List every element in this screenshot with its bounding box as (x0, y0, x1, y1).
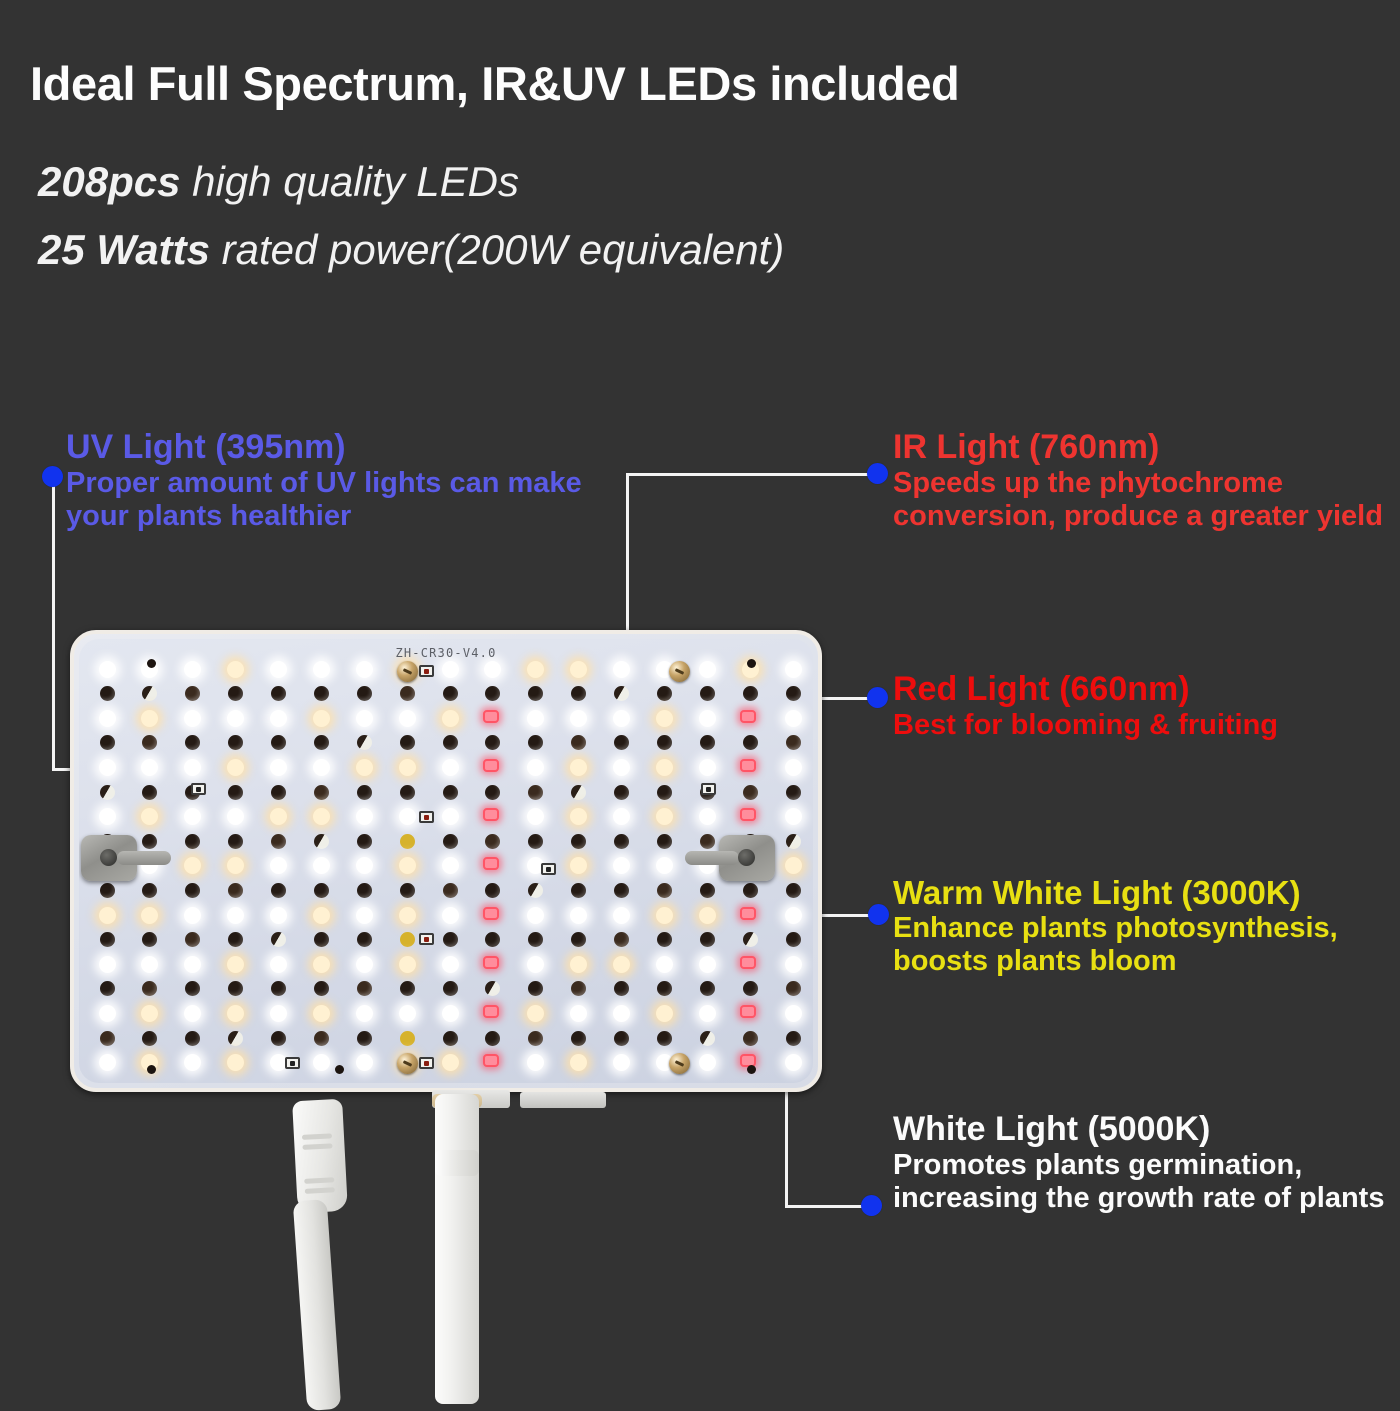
led-d2 (786, 735, 801, 750)
led-d (228, 981, 243, 996)
led-d (657, 932, 672, 947)
led-d (786, 932, 801, 947)
led-dw (142, 686, 157, 701)
mounting-bracket-right (719, 835, 775, 881)
led-w (99, 1054, 116, 1071)
led-d (657, 785, 672, 800)
gooseneck-segment (435, 1150, 479, 1176)
led-d (185, 834, 200, 849)
plug-ridge (302, 1143, 332, 1150)
led-w (613, 1005, 630, 1022)
led-d (357, 785, 372, 800)
page-title: Ideal Full Spectrum, IR&UV LEDs included (30, 56, 959, 111)
led-d (142, 834, 157, 849)
callout-ir-title: IR Light (760nm) (893, 430, 1393, 465)
led-d (100, 981, 115, 996)
led-w (399, 710, 416, 727)
led-w (227, 808, 244, 825)
led-ir-smd (419, 1057, 434, 1069)
led-ww (141, 808, 158, 825)
led-w (356, 907, 373, 924)
led-uv-smd (541, 863, 556, 875)
leader-dot-red-label (867, 687, 888, 708)
led-d (271, 883, 286, 898)
led-r (483, 956, 499, 969)
bracket-hole (100, 849, 117, 866)
panel-pin-hole (147, 659, 156, 668)
led-d (657, 735, 672, 750)
callout-warm-white-light: Warm White Light (3000K) Enhance plants … (893, 876, 1393, 978)
led-w (785, 1005, 802, 1022)
led-d (271, 785, 286, 800)
led-uv-smd (701, 783, 716, 795)
led-d2 (314, 1031, 329, 1046)
led-dw (485, 981, 500, 996)
led-y (400, 834, 415, 849)
led-d2 (142, 735, 157, 750)
led-w (184, 1054, 201, 1071)
led-r (483, 710, 499, 723)
led-d (314, 686, 329, 701)
led-w (613, 759, 630, 776)
led-d (657, 1031, 672, 1046)
led-ww (527, 661, 544, 678)
led-w (356, 857, 373, 874)
led-w (699, 1054, 716, 1071)
led-d (571, 1031, 586, 1046)
led-d2 (443, 883, 458, 898)
led-d (614, 981, 629, 996)
bracket-hole (738, 849, 755, 866)
led-d (443, 834, 458, 849)
led-d (314, 932, 329, 947)
plug-ridge (305, 1187, 335, 1194)
led-dw (571, 785, 586, 800)
leader-dot-ir-label (867, 463, 888, 484)
led-d (443, 735, 458, 750)
callout-uv-title: UV Light (395nm) (66, 430, 586, 465)
led-r (740, 759, 756, 772)
power-plug-connector (292, 1099, 348, 1213)
led-w (313, 857, 330, 874)
led-d (271, 1031, 286, 1046)
led-d (357, 834, 372, 849)
panel-pin-hole (747, 1065, 756, 1074)
led-w (313, 661, 330, 678)
led-w (442, 808, 459, 825)
led-d (100, 932, 115, 947)
led-ww (227, 1005, 244, 1022)
led-ww (227, 1054, 244, 1071)
led-ww (141, 907, 158, 924)
led-d (228, 686, 243, 701)
led-d (485, 785, 500, 800)
led-w (356, 1005, 373, 1022)
callout-warm-white-title: Warm White Light (3000K) (893, 876, 1393, 910)
led-ww (442, 1054, 459, 1071)
panel-screw (397, 1053, 418, 1074)
led-d (314, 735, 329, 750)
led-w (527, 808, 544, 825)
led-d (743, 883, 758, 898)
led-w (99, 710, 116, 727)
led-d (614, 1031, 629, 1046)
callout-ir-description: Speeds up the phytochrome conversion, pr… (893, 467, 1393, 533)
led-w (442, 956, 459, 973)
led-r (740, 710, 756, 723)
led-d (700, 932, 715, 947)
led-w (613, 907, 630, 924)
led-y (400, 1031, 415, 1046)
led-ww (570, 759, 587, 776)
led-w (99, 661, 116, 678)
led-array (79, 639, 813, 1083)
bracket-arm (685, 851, 739, 865)
led-ir-smd (419, 665, 434, 677)
led-w (785, 1054, 802, 1071)
led-w (227, 710, 244, 727)
panel-pin-hole (147, 1065, 156, 1074)
led-w (785, 907, 802, 924)
callout-uv-description: Proper amount of UV lights can make your… (66, 467, 586, 533)
panel-screw (397, 661, 418, 682)
led-d (485, 1031, 500, 1046)
led-d (485, 686, 500, 701)
led-w (442, 1005, 459, 1022)
led-w (699, 661, 716, 678)
led-r (483, 1005, 499, 1018)
led-d (100, 686, 115, 701)
led-d2 (100, 1031, 115, 1046)
led-w (570, 1005, 587, 1022)
led-d (271, 981, 286, 996)
led-d2 (185, 932, 200, 947)
led-w (99, 808, 116, 825)
led-uv-smd (285, 1057, 300, 1069)
led-d (528, 735, 543, 750)
led-w (527, 710, 544, 727)
led-d (571, 932, 586, 947)
led-d (142, 932, 157, 947)
led-ww (570, 1054, 587, 1071)
led-uv-smd (191, 783, 206, 795)
led-ww (613, 956, 630, 973)
panel-pin-hole (335, 1065, 344, 1074)
led-d (185, 981, 200, 996)
led-d (142, 1031, 157, 1046)
led-w (527, 1054, 544, 1071)
led-w (356, 710, 373, 727)
led-w (613, 857, 630, 874)
led-d (443, 1031, 458, 1046)
led-w (527, 907, 544, 924)
leader-line-white-horizontal (785, 1205, 873, 1208)
led-r (740, 907, 756, 920)
pcb-silkscreen-label: ZH-CR30-V4.0 (79, 646, 813, 660)
power-cord (293, 1199, 342, 1411)
led-dw (228, 1031, 243, 1046)
led-d2 (657, 883, 672, 898)
led-w (399, 1005, 416, 1022)
led-d (743, 735, 758, 750)
led-d (443, 981, 458, 996)
led-d (185, 1031, 200, 1046)
led-w (442, 907, 459, 924)
led-ww (99, 907, 116, 924)
led-w (442, 661, 459, 678)
led-r (483, 759, 499, 772)
led-d2 (185, 686, 200, 701)
led-d2 (314, 785, 329, 800)
led-w (442, 759, 459, 776)
led-ww (184, 857, 201, 874)
spec-power-value: 25 Watts (38, 226, 210, 273)
led-d (743, 981, 758, 996)
led-w (184, 710, 201, 727)
led-ww (313, 808, 330, 825)
led-w (141, 956, 158, 973)
led-dw (100, 785, 115, 800)
gooseneck-tube (435, 1094, 479, 1404)
led-d2 (571, 735, 586, 750)
leader-line-white-vertical (785, 1087, 788, 1208)
led-ww (141, 1005, 158, 1022)
led-d (400, 735, 415, 750)
led-w (270, 661, 287, 678)
led-ww (270, 808, 287, 825)
led-d2 (271, 834, 286, 849)
callout-red-light: Red Light (660nm) Best for blooming & fr… (893, 672, 1393, 742)
led-d (614, 883, 629, 898)
led-d2 (528, 785, 543, 800)
led-ww (656, 710, 673, 727)
led-ww (399, 956, 416, 973)
led-w (785, 759, 802, 776)
led-ww (399, 857, 416, 874)
led-d (443, 932, 458, 947)
led-d (228, 834, 243, 849)
led-w (184, 956, 201, 973)
led-d2 (614, 932, 629, 947)
led-ww (442, 710, 459, 727)
led-ww (227, 956, 244, 973)
led-w (442, 857, 459, 874)
led-ww (570, 857, 587, 874)
led-ww (399, 759, 416, 776)
led-r (740, 808, 756, 821)
led-w (484, 661, 501, 678)
callout-warm-white-description: Enhance plants photosynthesis, boosts pl… (893, 912, 1393, 978)
led-r (483, 808, 499, 821)
led-d (357, 686, 372, 701)
led-w (270, 710, 287, 727)
led-w (527, 759, 544, 776)
led-ww (570, 808, 587, 825)
led-d (614, 834, 629, 849)
led-ww (313, 956, 330, 973)
led-d (228, 932, 243, 947)
led-d (528, 686, 543, 701)
panel-pin-hole (747, 659, 756, 668)
led-d2 (357, 981, 372, 996)
led-ww (656, 759, 673, 776)
callout-red-title: Red Light (660nm) (893, 672, 1393, 707)
led-d (786, 785, 801, 800)
led-w (613, 1054, 630, 1071)
led-ww (570, 661, 587, 678)
led-w (184, 808, 201, 825)
plug-ridge (304, 1177, 334, 1184)
led-ww (356, 759, 373, 776)
led-dw (786, 834, 801, 849)
leader-line-uv-vertical (52, 486, 55, 770)
led-d2 (743, 1031, 758, 1046)
led-w (613, 710, 630, 727)
led-d (314, 883, 329, 898)
led-w (699, 710, 716, 727)
led-w (99, 1005, 116, 1022)
led-d (400, 883, 415, 898)
panel-mount-cap-right (520, 1092, 606, 1108)
bracket-arm (117, 851, 171, 865)
led-d2 (142, 981, 157, 996)
led-d (185, 735, 200, 750)
led-d (700, 981, 715, 996)
led-w (699, 759, 716, 776)
led-d (100, 735, 115, 750)
callout-red-description: Best for blooming & fruiting (893, 709, 1393, 742)
panel-screw (669, 1053, 690, 1074)
led-pcb-board: ZH-CR30-V4.0 (79, 639, 813, 1083)
led-d (528, 981, 543, 996)
led-w (99, 956, 116, 973)
spec-power-text: rated power(200W equivalent) (210, 226, 784, 273)
led-w (356, 1054, 373, 1071)
led-w (570, 710, 587, 727)
led-w (184, 1005, 201, 1022)
led-w (356, 956, 373, 973)
led-d (786, 686, 801, 701)
led-d2 (400, 686, 415, 701)
led-ww (227, 759, 244, 776)
led-d (485, 883, 500, 898)
leader-line-ir-horizontal (626, 473, 878, 476)
led-d (485, 735, 500, 750)
led-d (614, 785, 629, 800)
led-r (483, 857, 499, 870)
led-w (699, 956, 716, 973)
led-w (356, 661, 373, 678)
led-d (571, 834, 586, 849)
led-d (271, 735, 286, 750)
led-w (270, 956, 287, 973)
callout-uv-light: UV Light (395nm) Proper amount of UV lig… (66, 430, 586, 533)
spec-line-leds: 208pcs high quality LEDs (38, 158, 519, 206)
led-d (443, 785, 458, 800)
led-w (270, 857, 287, 874)
callout-white-light: White Light (5000K) Promotes plants germ… (893, 1112, 1393, 1215)
led-d (700, 735, 715, 750)
led-d (700, 883, 715, 898)
led-d (228, 735, 243, 750)
led-d (443, 686, 458, 701)
led-d (786, 1031, 801, 1046)
led-d (786, 883, 801, 898)
led-w (656, 956, 673, 973)
led-d2 (228, 883, 243, 898)
led-w (613, 808, 630, 825)
led-ww (227, 857, 244, 874)
led-r (483, 907, 499, 920)
led-d2 (571, 981, 586, 996)
led-w (656, 857, 673, 874)
led-w (227, 907, 244, 924)
led-w (699, 808, 716, 825)
led-ww (313, 1005, 330, 1022)
led-w (184, 759, 201, 776)
led-ww (785, 857, 802, 874)
led-grow-light-panel: ZH-CR30-V4.0 (70, 630, 822, 1092)
led-dw (357, 735, 372, 750)
led-d (228, 785, 243, 800)
led-ww (656, 1005, 673, 1022)
led-d (614, 735, 629, 750)
led-w (613, 661, 630, 678)
led-dw (614, 686, 629, 701)
led-w (184, 907, 201, 924)
led-d (357, 1031, 372, 1046)
panel-screw (669, 661, 690, 682)
led-ir-smd (419, 933, 434, 945)
led-ww (570, 956, 587, 973)
led-d (485, 932, 500, 947)
led-ww (699, 907, 716, 924)
led-d (271, 686, 286, 701)
led-dw (700, 1031, 715, 1046)
led-ww (527, 1005, 544, 1022)
led-y (400, 932, 415, 947)
led-d2 (700, 834, 715, 849)
led-w (699, 1005, 716, 1022)
spec-led-count: 208pcs (38, 158, 180, 205)
callout-white-title: White Light (5000K) (893, 1112, 1393, 1147)
led-w (270, 759, 287, 776)
led-w (313, 1054, 330, 1071)
leader-dot-white-label (861, 1195, 882, 1216)
led-w (270, 907, 287, 924)
callout-white-description: Promotes plants germination, increasing … (893, 1149, 1393, 1215)
leader-dot-warm-white-label (868, 904, 889, 925)
led-d (528, 932, 543, 947)
led-d (528, 834, 543, 849)
led-w (99, 759, 116, 776)
led-d (142, 883, 157, 898)
led-d (357, 883, 372, 898)
led-d (400, 981, 415, 996)
led-dw (528, 883, 543, 898)
led-d (700, 686, 715, 701)
led-ww (313, 710, 330, 727)
led-d (357, 932, 372, 947)
led-ww (227, 661, 244, 678)
led-w (313, 759, 330, 776)
led-w (785, 710, 802, 727)
led-d2 (485, 834, 500, 849)
mounting-bracket-left (81, 835, 137, 881)
led-w (785, 956, 802, 973)
led-w (785, 808, 802, 825)
led-w (399, 808, 416, 825)
